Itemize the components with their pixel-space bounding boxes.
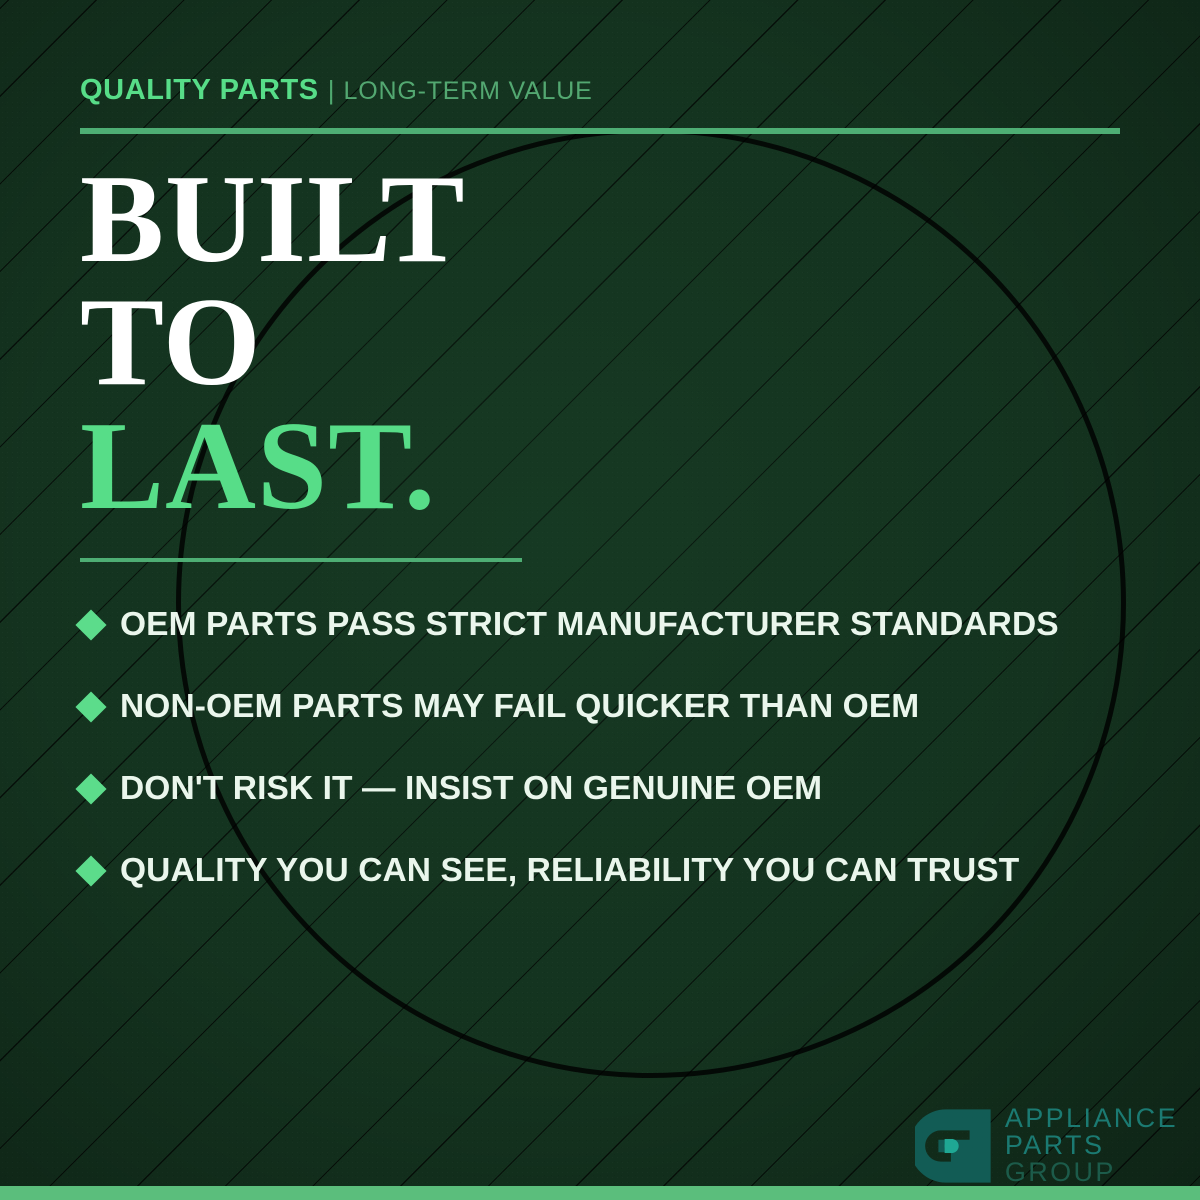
kicker-separator: |: [328, 75, 335, 106]
list-item: QUALITY YOU CAN SEE, RELIABILITY YOU CAN…: [80, 830, 1160, 912]
diamond-bullet-icon: [75, 691, 106, 722]
bottom-accent-bar: [0, 1186, 1200, 1200]
list-item-label: OEM PARTS PASS STRICT MANUFACTURER STAND…: [120, 606, 1059, 644]
list-item-label: DON'T RISK IT — INSIST ON GENUINE OEM: [120, 770, 822, 808]
headline-divider-rule: [80, 558, 522, 562]
kicker-primary-label: QUALITY PARTS: [80, 74, 319, 107]
logo-wordmark: APPLIANCE PARTS GROUP: [1005, 1105, 1178, 1186]
benefits-list: OEM PARTS PASS STRICT MANUFACTURER STAND…: [80, 584, 1160, 912]
logo-word-parts: PARTS: [1005, 1132, 1178, 1159]
list-item-label: NON-OEM PARTS MAY FAIL QUICKER THAN OEM: [120, 688, 919, 726]
header-divider-rule: [80, 128, 1120, 134]
brand-logo: APPLIANCE PARTS GROUP: [915, 1105, 1178, 1186]
diamond-bullet-icon: [75, 609, 106, 640]
headline-line-2: TO: [80, 281, 466, 404]
kicker-secondary-label: LONG-TERM VALUE: [344, 77, 593, 106]
header-kicker: QUALITY PARTS | LONG-TERM VALUE: [80, 74, 593, 107]
diamond-bullet-icon: [75, 855, 106, 886]
page-title: BUILT TO LAST.: [80, 158, 466, 528]
diamond-bullet-icon: [75, 773, 106, 804]
list-item: DON'T RISK IT — INSIST ON GENUINE OEM: [80, 748, 1160, 830]
logo-word-appliance: APPLIANCE: [1005, 1105, 1178, 1132]
list-item: OEM PARTS PASS STRICT MANUFACTURER STAND…: [80, 584, 1160, 666]
logo-g-mark-icon: [915, 1107, 993, 1185]
headline-line-1: BUILT: [80, 158, 466, 281]
logo-word-group: GROUP: [1005, 1159, 1178, 1186]
list-item-label: QUALITY YOU CAN SEE, RELIABILITY YOU CAN…: [120, 852, 1019, 890]
promotional-poster: QUALITY PARTS | LONG-TERM VALUE BUILT TO…: [0, 0, 1200, 1200]
headline-line-3: LAST.: [80, 405, 466, 528]
list-item: NON-OEM PARTS MAY FAIL QUICKER THAN OEM: [80, 666, 1160, 748]
